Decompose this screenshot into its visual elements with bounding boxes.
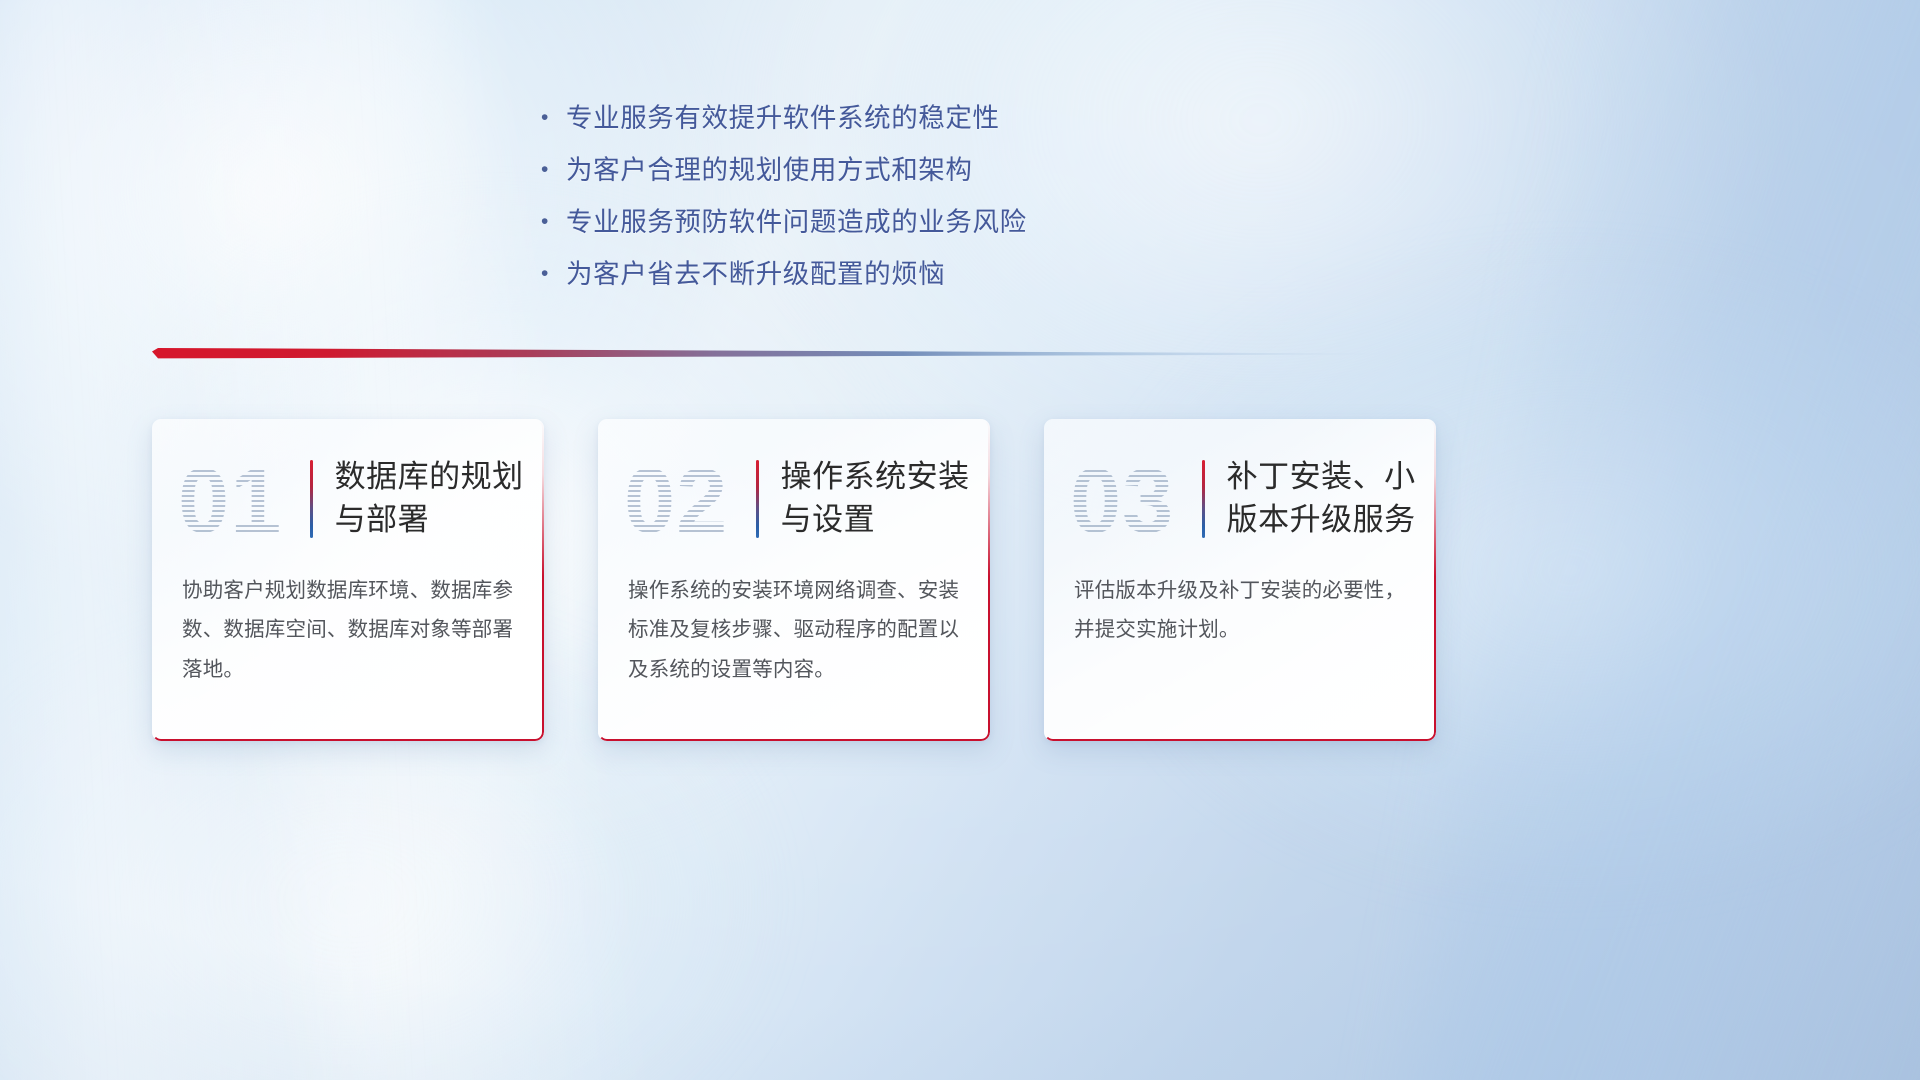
card-body-text: 评估版本升级及补丁安装的必要性，并提交实施计划。 — [1044, 571, 1436, 650]
bullet-dot-icon: • — [536, 248, 566, 300]
service-card[interactable]: 02 操作系统安装 与设置 操作系统的安装环境网络调查、安装标准及复核步骤、驱动… — [598, 419, 990, 741]
service-card[interactable]: 01 数据库的规划 与部署 协助客户规划数据库环境、数据库参数、数据库空间、数据… — [152, 419, 544, 741]
bullet-text: 为客户合理的规划使用方式和架构 — [566, 144, 973, 196]
card-title: 数据库的规划 与部署 — [335, 456, 524, 542]
card-title-rule — [310, 460, 313, 538]
card-title-rule — [756, 460, 759, 538]
list-item: • 专业服务预防软件问题造成的业务风险 — [536, 196, 1236, 248]
card-number-watermark: 02 — [624, 455, 754, 547]
card-title-line: 与设置 — [781, 499, 970, 542]
service-card[interactable]: 03 补丁安装、小 版本升级服务 评估版本升级及补丁安装的必要性，并提交实施计划… — [1044, 419, 1436, 741]
card-header: 01 数据库的规划 与部署 — [152, 419, 544, 579]
bullet-dot-icon: • — [536, 92, 566, 144]
card-header: 03 补丁安装、小 版本升级服务 — [1044, 419, 1436, 579]
benefits-bullet-list: • 专业服务有效提升软件系统的稳定性 • 为客户合理的规划使用方式和架构 • 专… — [536, 92, 1236, 300]
card-title-line: 操作系统安装 — [781, 456, 970, 499]
slide-canvas: • 专业服务有效提升软件系统的稳定性 • 为客户合理的规划使用方式和架构 • 专… — [0, 0, 1920, 1080]
card-title-line: 与部署 — [335, 499, 524, 542]
card-title-line: 补丁安装、小 — [1227, 456, 1416, 499]
background-light-streak-right — [1389, 0, 1920, 1080]
list-item: • 专业服务有效提升软件系统的稳定性 — [536, 92, 1236, 144]
bullet-dot-icon: • — [536, 196, 566, 248]
list-item: • 为客户合理的规划使用方式和架构 — [536, 144, 1236, 196]
card-title-rule — [1202, 460, 1205, 538]
card-title-line: 数据库的规划 — [335, 456, 524, 499]
card-body-text: 操作系统的安装环境网络调查、安装标准及复核步骤、驱动程序的配置以及系统的设置等内… — [598, 571, 990, 689]
card-body-text: 协助客户规划数据库环境、数据库参数、数据库空间、数据库对象等部署落地。 — [152, 571, 544, 689]
card-number-watermark: 03 — [1070, 455, 1200, 547]
bullet-text: 专业服务有效提升软件系统的稳定性 — [566, 92, 1000, 144]
card-title-line: 版本升级服务 — [1227, 499, 1416, 542]
list-item: • 为客户省去不断升级配置的烦恼 — [536, 248, 1236, 300]
card-header: 02 操作系统安装 与设置 — [598, 419, 990, 579]
card-title: 补丁安装、小 版本升级服务 — [1227, 456, 1416, 542]
bullet-dot-icon: • — [536, 144, 566, 196]
card-title: 操作系统安装 与设置 — [781, 456, 970, 542]
card-number-watermark: 01 — [178, 455, 308, 547]
service-card-group: 01 数据库的规划 与部署 协助客户规划数据库环境、数据库参数、数据库空间、数据… — [152, 419, 1452, 744]
bullet-text: 专业服务预防软件问题造成的业务风险 — [566, 196, 1027, 248]
bullet-text: 为客户省去不断升级配置的烦恼 — [566, 248, 945, 300]
section-divider — [152, 346, 1404, 362]
